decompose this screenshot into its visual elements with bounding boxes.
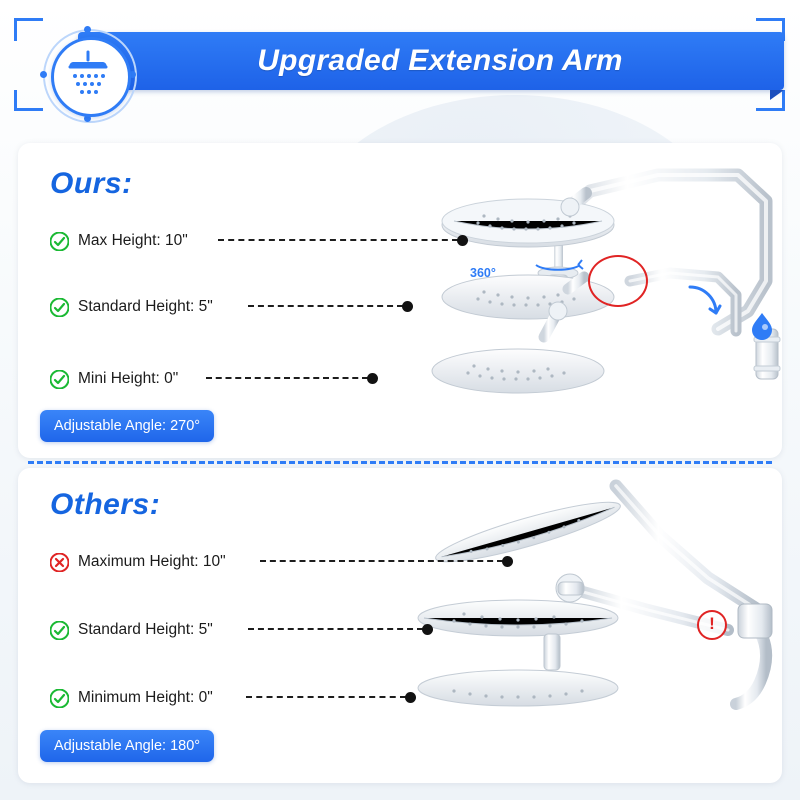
leader-line	[246, 690, 416, 704]
feature-label: Maximum Height: 10"	[78, 553, 226, 571]
header-corner-bracket	[14, 90, 43, 111]
leader-endpoint-dot	[405, 692, 416, 703]
logo-ring-dot	[40, 71, 47, 78]
leader-endpoint-dot	[502, 556, 513, 567]
others-section-title: Others:	[50, 488, 160, 522]
header: Upgraded Extension Arm	[0, 18, 800, 104]
feature-row-standard-height: Standard Height: 5"	[50, 295, 213, 319]
leader-dashes	[248, 628, 423, 630]
feature-row-maximum-height: Maximum Height: 10"	[50, 550, 226, 574]
leader-dashes	[248, 305, 403, 307]
feature-label: Minimum Height: 0"	[78, 689, 213, 707]
feature-label: Mini Height: 0"	[78, 370, 178, 388]
logo-badge	[40, 26, 136, 122]
ours-product-illustration	[418, 161, 782, 456]
banner-ribbon-tail	[770, 90, 784, 100]
feature-label: Max Height: 10"	[78, 232, 188, 250]
others-card: Others:	[18, 468, 782, 783]
check-circle-icon	[50, 621, 69, 640]
adjustable-angle-pill-ours: Adjustable Angle: 270°	[40, 410, 214, 442]
page-title: Upgraded Extension Arm	[120, 44, 760, 78]
leader-dashes	[218, 239, 458, 241]
section-divider	[28, 461, 772, 464]
x-circle-icon	[50, 553, 69, 572]
leader-line	[206, 371, 378, 385]
leader-line	[260, 554, 513, 568]
red-circle-highlight	[588, 255, 648, 307]
leader-endpoint-dot	[402, 301, 413, 312]
feature-label: Standard Height: 5"	[78, 298, 213, 316]
header-corner-bracket	[14, 18, 43, 41]
leader-endpoint-dot	[422, 624, 433, 635]
exclamation-circle-icon: !	[697, 610, 727, 640]
feature-label: Standard Height: 5"	[78, 621, 213, 639]
leader-endpoint-dot	[367, 373, 378, 384]
feature-row-minimum-height: Minimum Height: 0"	[50, 686, 213, 710]
check-circle-icon	[50, 298, 69, 317]
ours-card: Ours:	[18, 143, 782, 458]
leader-dashes	[246, 696, 406, 698]
leader-line	[248, 622, 433, 636]
logo-ring-dot	[84, 26, 91, 33]
leader-line	[248, 299, 413, 313]
check-circle-icon	[50, 232, 69, 251]
feature-row-mini-height: Mini Height: 0"	[50, 367, 178, 391]
leader-line	[218, 233, 468, 247]
leader-endpoint-dot	[457, 235, 468, 246]
check-circle-icon	[50, 689, 69, 708]
check-circle-icon	[50, 370, 69, 389]
feature-row-max-height: Max Height: 10"	[50, 229, 188, 253]
feature-row-standard-height: Standard Height: 5"	[50, 618, 213, 642]
leader-dashes	[260, 560, 503, 562]
rotation-360-badge: 360°	[470, 266, 496, 280]
adjustable-angle-pill-others: Adjustable Angle: 180°	[40, 730, 214, 762]
product-comparison-infographic: Upgraded Extension Arm	[0, 0, 800, 800]
shower-head-icon	[62, 48, 114, 105]
ours-section-title: Ours:	[50, 167, 133, 201]
leader-dashes	[206, 377, 368, 379]
